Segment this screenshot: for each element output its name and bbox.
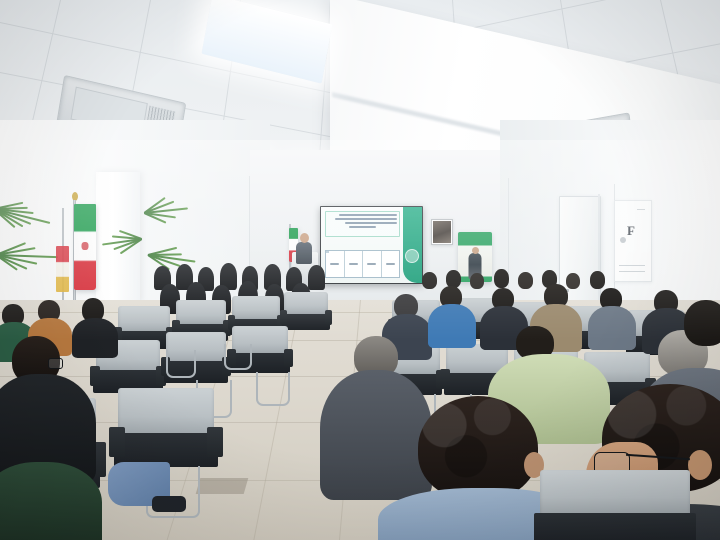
slide-logo-icon xyxy=(405,249,419,263)
framed-wall-portrait xyxy=(431,219,453,245)
table-cell xyxy=(362,251,381,277)
attendee-shoe xyxy=(152,496,186,512)
table-header-row xyxy=(326,251,329,253)
flag-emblem xyxy=(82,242,89,250)
attendee-head-far-right xyxy=(684,300,720,352)
glasses-icon xyxy=(48,358,63,369)
attendee-hair xyxy=(418,396,538,500)
floor-drain-grate xyxy=(196,478,249,494)
conference-chair xyxy=(540,470,690,540)
attendee-head xyxy=(684,300,720,346)
conference-hall-photo: F xyxy=(0,0,720,540)
chair-leg xyxy=(224,344,252,370)
table-cell xyxy=(381,251,400,277)
attendee-jeans-left xyxy=(108,450,198,540)
attendee-foreground-left-2 xyxy=(0,452,110,540)
slide-title-box xyxy=(325,211,400,237)
attendee-ear xyxy=(688,450,712,480)
presenter-head xyxy=(300,233,309,243)
table-header-cell xyxy=(328,251,329,253)
chair-leg xyxy=(256,372,290,406)
table-cell xyxy=(344,251,363,277)
attendee-body xyxy=(0,462,102,540)
chair-leg xyxy=(166,350,196,378)
conference-chair xyxy=(284,292,328,332)
iran-flag-cloth xyxy=(74,204,96,290)
sign-letter: F xyxy=(627,223,635,239)
